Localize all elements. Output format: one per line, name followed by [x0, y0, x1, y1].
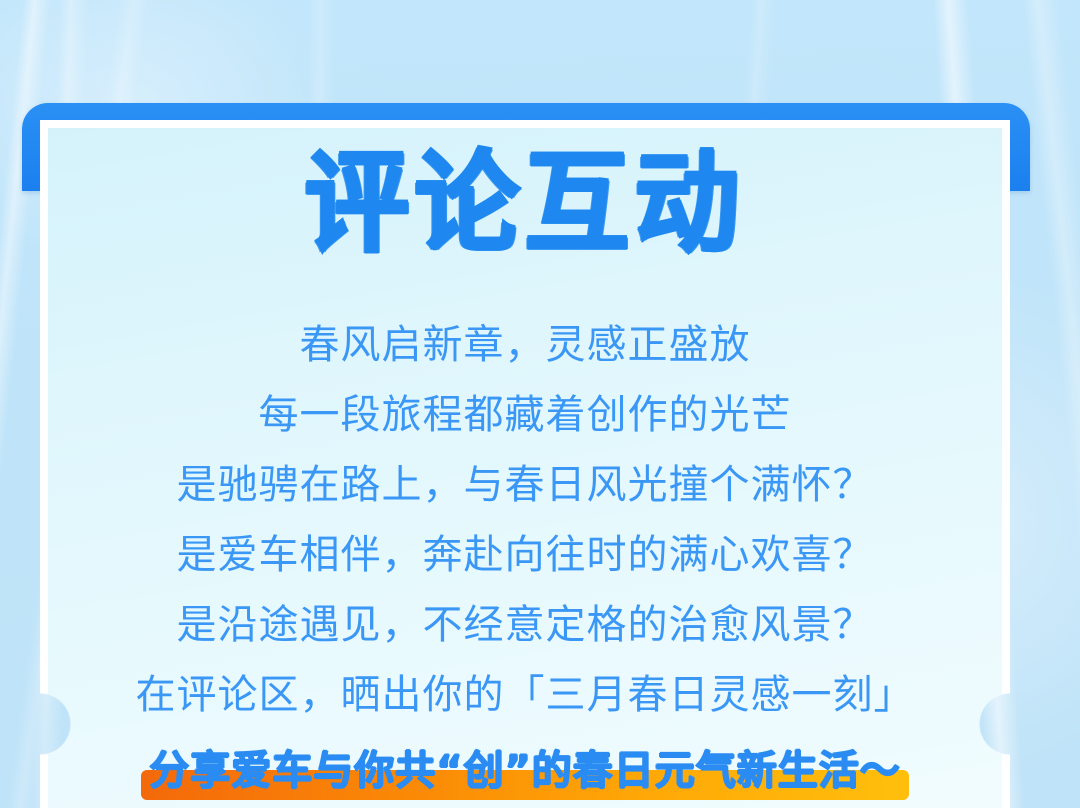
copy-line-5: 是沿途遇见，不经意定格的治愈风景？ — [48, 590, 1002, 660]
ticket-card-inner: 评论互动 春风启新章，灵感正盛放 每一段旅程都藏着创作的光芒 是驰骋在路上，与春… — [48, 128, 1002, 808]
ticket-card: 评论互动 春风启新章，灵感正盛放 每一段旅程都藏着创作的光芒 是驰骋在路上，与春… — [40, 120, 1010, 808]
title-container: 评论互动 — [48, 144, 1002, 256]
copy-line-3: 是驰骋在路上，与春日风光撞个满怀？ — [48, 450, 1002, 520]
copy-line-6: 在评论区，晒出你的「三月春日灵感一刻」 — [48, 660, 1002, 730]
copy-line-1: 春风启新章，灵感正盛放 — [48, 310, 1002, 380]
poster-root: 评论互动 春风启新章，灵感正盛放 每一段旅程都藏着创作的光芒 是驰骋在路上，与春… — [0, 0, 1080, 808]
highlight-line-text: 分享爱车与你共“创”的春日元气新生活～ — [149, 748, 901, 794]
copy-line-2: 每一段旅程都藏着创作的光芒 — [48, 380, 1002, 450]
copy-line-4: 是爱车相伴，奔赴向往时的满心欢喜？ — [48, 520, 1002, 590]
highlight-line: 分享爱车与你共“创”的春日元气新生活～ — [141, 740, 909, 802]
page-title: 评论互动 — [305, 144, 745, 263]
body-copy: 春风启新章，灵感正盛放 每一段旅程都藏着创作的光芒 是驰骋在路上，与春日风光撞个… — [48, 310, 1002, 802]
